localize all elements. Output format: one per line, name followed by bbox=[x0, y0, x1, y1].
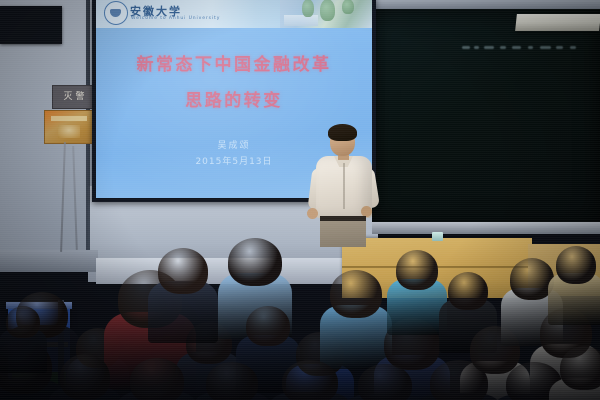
audience-member-head bbox=[330, 270, 382, 318]
chalk-mark bbox=[570, 46, 576, 49]
board-light-fixture bbox=[515, 14, 600, 31]
lecture-hall-photo: 灭 警 安徽大学 Welcome to Anhui University bbox=[0, 0, 600, 400]
chalk-mark bbox=[462, 46, 470, 49]
audience-member-head bbox=[206, 362, 258, 400]
audience-member-head bbox=[560, 346, 600, 390]
chalk-mark bbox=[474, 46, 479, 49]
chalk-mark bbox=[540, 46, 551, 49]
campus-photo bbox=[280, 0, 372, 28]
safety-notice-poster bbox=[44, 110, 94, 144]
speaker-hair bbox=[328, 124, 357, 141]
blackboard bbox=[372, 9, 600, 225]
university-name-en: Welcome to Anhui University bbox=[131, 16, 220, 21]
blackboard-top-rail bbox=[372, 0, 600, 9]
audience-member-head bbox=[158, 248, 208, 294]
chalk-mark bbox=[500, 46, 506, 49]
slide-header-band: 安徽大学 Welcome to Anhui University bbox=[96, 0, 372, 28]
audience-member-head bbox=[6, 306, 40, 338]
wall-sign-char-1: 灭 bbox=[63, 93, 72, 102]
audience-member-head bbox=[358, 364, 412, 400]
audience-member-head bbox=[448, 272, 488, 310]
audience-member-head bbox=[60, 354, 110, 400]
speaker-left-hand bbox=[307, 208, 318, 219]
poster-strip bbox=[51, 116, 87, 121]
slide-title-line-2: 思路的转变 bbox=[96, 86, 372, 111]
chalk-mark bbox=[512, 46, 521, 49]
chalk-mark bbox=[528, 46, 533, 49]
poster-graphic bbox=[58, 125, 80, 138]
wall-vent bbox=[0, 6, 62, 44]
speaker-shirt-placket bbox=[343, 163, 345, 209]
campus-tree-icon bbox=[320, 0, 335, 21]
university-seal-icon bbox=[104, 1, 128, 25]
campus-building bbox=[284, 15, 318, 26]
chalk-mark bbox=[556, 46, 563, 49]
audience-member-head bbox=[130, 358, 184, 400]
audience bbox=[0, 236, 600, 400]
campus-tree-icon bbox=[342, 0, 354, 14]
audience-member-head bbox=[396, 250, 438, 290]
audience-member-head bbox=[228, 238, 282, 286]
audience-member-head bbox=[556, 246, 596, 284]
blackboard-ledge bbox=[372, 222, 600, 234]
audience-member-head bbox=[282, 360, 338, 400]
audience-member-head bbox=[430, 360, 488, 400]
audience-member-head bbox=[246, 306, 290, 346]
wall-sign: 灭 警 bbox=[52, 85, 96, 109]
slide-title-line-1: 新常态下中国金融改革 bbox=[96, 50, 372, 75]
chalk-mark bbox=[484, 46, 494, 49]
wall-sign-char-2: 警 bbox=[76, 93, 85, 102]
campus-tree-icon bbox=[302, 0, 314, 17]
